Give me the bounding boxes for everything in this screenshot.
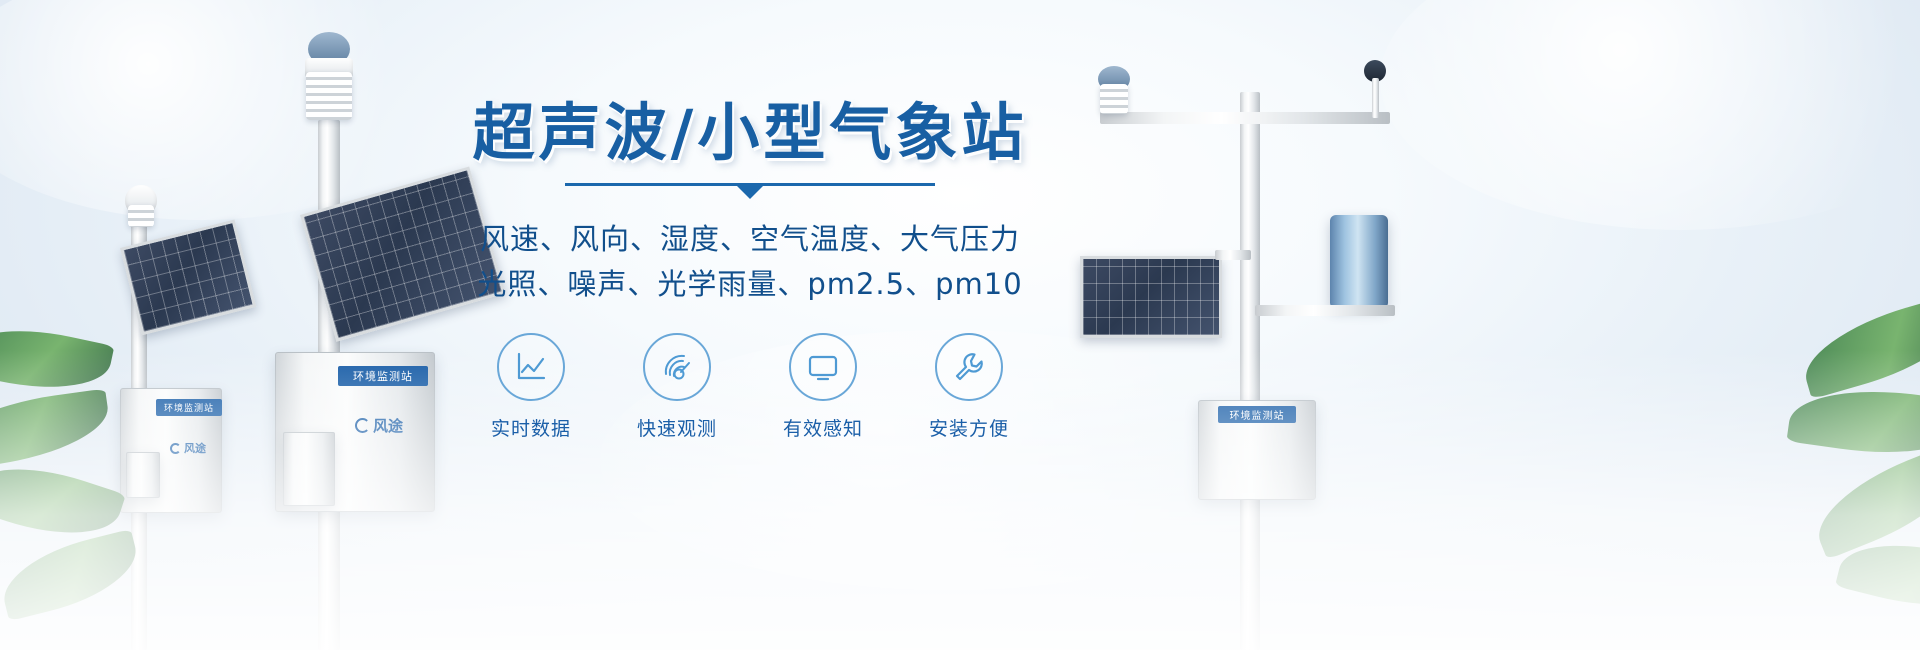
down-triangle-icon (737, 186, 763, 199)
feature-easy-installation[interactable]: 安装方便 (914, 333, 1024, 441)
cabinet-door-panel (283, 432, 335, 506)
feature-label: 快速观测 (622, 414, 732, 441)
feature-icon-circle (789, 333, 857, 401)
brand-text: 风途 (184, 440, 206, 456)
rain-gauge (1330, 215, 1388, 307)
sensor-stack (306, 72, 352, 120)
title-divider (565, 183, 935, 205)
feature-icon-circle (935, 333, 1003, 401)
brand-logo: 风途 (355, 415, 403, 436)
feature-label: 实时数据 (476, 414, 586, 441)
cloud-decoration (0, 0, 460, 220)
cabinet-label: 环境监测站 (338, 366, 428, 386)
feature-icon-circle (643, 333, 711, 401)
wrench-icon (952, 350, 986, 384)
page-title: 超声波/小型气象站 (440, 100, 1060, 165)
solar-panel (1080, 256, 1222, 338)
feature-realtime-data[interactable]: 实时数据 (476, 333, 586, 441)
product-banner: 环境监测站 风途 环境监测站 风途 环境监测站 (0, 0, 1920, 650)
cloud-decoration (1380, 0, 1920, 230)
feature-icon-circle (497, 333, 565, 401)
cabinet-lower-vent (126, 452, 160, 498)
subtitle-line-2: 光照、噪声、光学雨量、pm2.5、pm10 (440, 262, 1060, 307)
mast-pole (1240, 92, 1260, 650)
leaf (0, 529, 145, 621)
leaf (0, 388, 113, 471)
radar-signal-icon (660, 350, 694, 384)
cabinet-label: 环境监测站 (156, 399, 222, 416)
gauge-shelf (1255, 305, 1395, 316)
feature-label: 有效感知 (768, 414, 878, 441)
brand-logo: 风途 (170, 440, 206, 456)
feature-label: 安装方便 (914, 414, 1024, 441)
leaf (1786, 378, 1920, 466)
sensor-arm (1372, 78, 1379, 118)
leaf (1795, 293, 1920, 399)
banner-content: 超声波/小型气象站 风速、风向、湿度、空气温度、大气压力 光照、噪声、光学雨量、… (440, 100, 1060, 441)
sensor-stack (128, 205, 154, 227)
feature-quick-observation[interactable]: 快速观测 (622, 333, 732, 441)
feature-list: 实时数据 快速观测 (440, 333, 1060, 441)
fengtu-logo-icon (355, 418, 370, 433)
cabinet-label: 环境监测站 (1218, 406, 1296, 423)
feature-effective-sensing[interactable]: 有效感知 (768, 333, 878, 441)
brand-text: 风途 (373, 415, 403, 436)
sensor-stack (1100, 84, 1128, 114)
fengtu-logo-icon (170, 443, 181, 454)
monitor-icon (806, 350, 840, 384)
subtitle-line-1: 风速、风向、湿度、空气温度、大气压力 (440, 217, 1060, 262)
cross-arm (1100, 112, 1390, 124)
leaf (1804, 442, 1920, 559)
panel-bracket (1215, 250, 1251, 260)
line-chart-icon (514, 350, 548, 384)
